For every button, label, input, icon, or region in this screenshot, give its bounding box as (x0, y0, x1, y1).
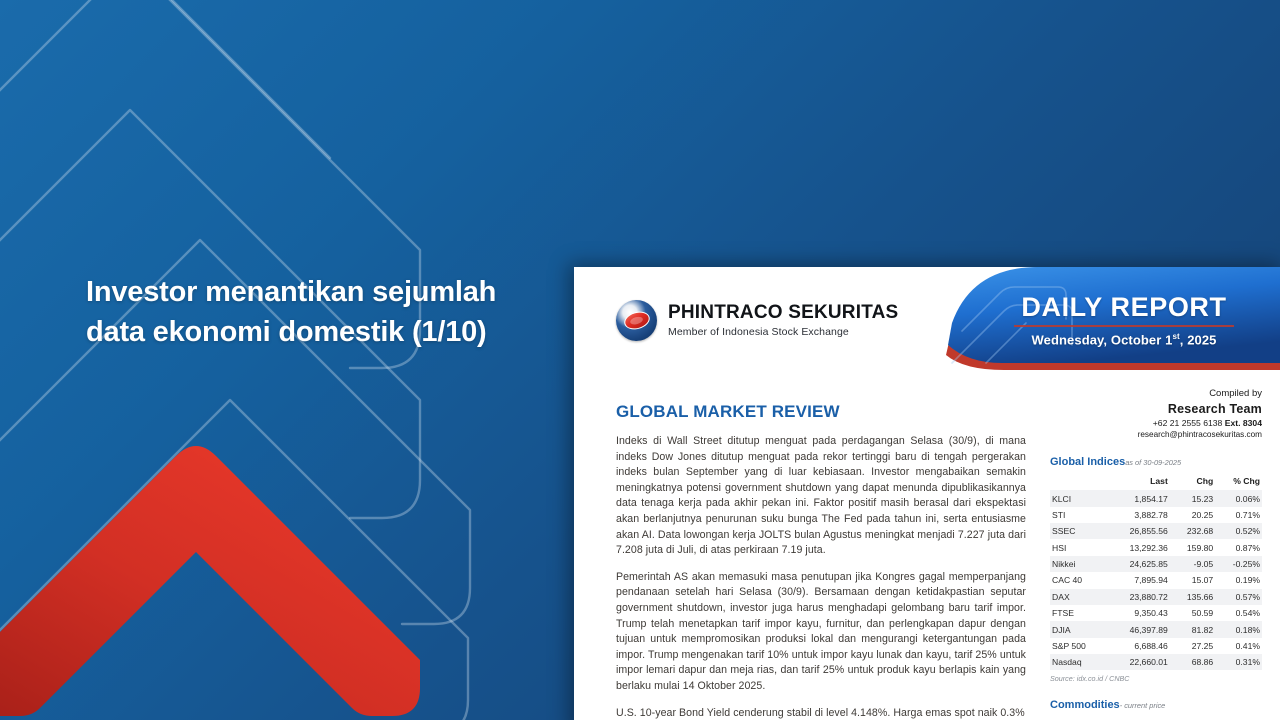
global-indices-table: Last Chg % Chg KLCI1,854.1715.230.06%STI… (1050, 474, 1262, 670)
cell-name: DAX (1050, 589, 1107, 605)
report-title-group: DAILY REPORT Wednesday, October 1st, 202… (988, 294, 1260, 347)
report-date: Wednesday, October 1st, 2025 (988, 332, 1260, 347)
phintraco-logo-icon (616, 300, 657, 341)
cell-name: CAC 40 (1050, 572, 1107, 588)
table-row: STI3,882.7820.250.71% (1050, 507, 1262, 523)
commodities-title: Commodities- current price (1050, 699, 1262, 711)
brand-name: PHINTRACO SEKURITAS (668, 303, 898, 323)
cell-chg: 20.25 (1170, 507, 1215, 523)
cell-name: DJIA (1050, 621, 1107, 637)
cell-last: 9,350.43 (1107, 605, 1170, 621)
compiled-by-team: Research Team (1050, 401, 1262, 418)
cell-name: SSEC (1050, 523, 1107, 539)
cell-last: 7,895.94 (1107, 572, 1170, 588)
global-indices-title: Global Indicesas of 30-09-2025 (1050, 456, 1262, 468)
cell-pct-chg: 0.41% (1215, 638, 1262, 654)
cell-last: 26,855.56 (1107, 523, 1170, 539)
cell-name: Nikkei (1050, 556, 1107, 572)
cell-last: 6,688.46 (1107, 638, 1170, 654)
report-title: DAILY REPORT (988, 294, 1260, 321)
col-header-chg: Chg (1170, 474, 1215, 490)
cell-chg: 50.59 (1170, 605, 1215, 621)
cell-pct-chg: 0.18% (1215, 621, 1262, 637)
cell-chg: -9.05 (1170, 556, 1215, 572)
global-indices-source: Source: idx.co.id / CNBC (1050, 674, 1262, 683)
table-row: SSEC26,855.56232.680.52% (1050, 523, 1262, 539)
brand-tagline: Member of Indonesia Stock Exchange (668, 326, 898, 338)
table-row: Nasdaq22,660.0168.860.31% (1050, 654, 1262, 670)
cell-name: S&P 500 (1050, 638, 1107, 654)
col-header-pct-chg: % Chg (1215, 474, 1262, 490)
daily-report-document: PHINTRACO SEKURITAS Member of Indonesia … (574, 267, 1280, 720)
review-paragraph: U.S. 10-year Bond Yield cenderung stabil… (616, 706, 1026, 720)
cell-name: Nasdaq (1050, 654, 1107, 670)
cell-chg: 81.82 (1170, 621, 1215, 637)
table-header-row: Last Chg % Chg (1050, 474, 1262, 490)
cell-name: FTSE (1050, 605, 1107, 621)
cell-last: 46,397.89 (1107, 621, 1170, 637)
brand-logo-group: PHINTRACO SEKURITAS Member of Indonesia … (616, 300, 898, 341)
compiled-by-email: research@phintracosekuritas.com (1050, 429, 1262, 440)
cell-pct-chg: 0.71% (1215, 507, 1262, 523)
cell-last: 1,854.17 (1107, 490, 1170, 506)
cell-last: 24,625.85 (1107, 556, 1170, 572)
document-header: PHINTRACO SEKURITAS Member of Indonesia … (574, 267, 1280, 370)
cell-pct-chg: 0.52% (1215, 523, 1262, 539)
cell-last: 3,882.78 (1107, 507, 1170, 523)
global-market-review-heading: GLOBAL MARKET REVIEW (616, 402, 1026, 422)
document-body: GLOBAL MARKET REVIEW Indeks di Wall Stre… (574, 370, 1280, 720)
table-row: HSI13,292.36159.800.87% (1050, 539, 1262, 555)
compiled-by-phone: +62 21 2555 6138 Ext. 8304 (1050, 418, 1262, 430)
cell-pct-chg: 0.19% (1215, 572, 1262, 588)
cell-chg: 15.23 (1170, 490, 1215, 506)
slide-headline: Investor menantikan sejumlah data ekonom… (86, 272, 506, 352)
cell-name: HSI (1050, 539, 1107, 555)
cell-pct-chg: 0.57% (1215, 589, 1262, 605)
compiled-by-label: Compiled by (1050, 388, 1262, 401)
right-column: Compiled by Research Team +62 21 2555 61… (1044, 380, 1280, 720)
compiled-by-block: Compiled by Research Team +62 21 2555 61… (1050, 388, 1262, 440)
cell-pct-chg: -0.25% (1215, 556, 1262, 572)
table-row: Nikkei24,625.85-9.05-0.25% (1050, 556, 1262, 572)
review-paragraph: Pemerintah AS akan memasuki masa penutup… (616, 570, 1026, 695)
cell-chg: 159.80 (1170, 539, 1215, 555)
cell-pct-chg: 0.31% (1215, 654, 1262, 670)
cell-pct-chg: 0.54% (1215, 605, 1262, 621)
cell-name: KLCI (1050, 490, 1107, 506)
table-row: DAX23,880.72135.660.57% (1050, 589, 1262, 605)
col-header-name (1050, 474, 1107, 490)
cell-chg: 68.86 (1170, 654, 1215, 670)
cell-chg: 135.66 (1170, 589, 1215, 605)
cell-name: STI (1050, 507, 1107, 523)
table-row: S&P 5006,688.4627.250.41% (1050, 638, 1262, 654)
left-column: GLOBAL MARKET REVIEW Indeks di Wall Stre… (574, 380, 1044, 720)
table-row: DJIA46,397.8981.820.18% (1050, 621, 1262, 637)
cell-last: 22,660.01 (1107, 654, 1170, 670)
report-title-rule (1014, 325, 1234, 327)
cell-last: 23,880.72 (1107, 589, 1170, 605)
cell-last: 13,292.36 (1107, 539, 1170, 555)
global-indices-rows: KLCI1,854.1715.230.06%STI3,882.7820.250.… (1050, 490, 1262, 670)
review-paragraph: Indeks di Wall Street ditutup menguat pa… (616, 434, 1026, 559)
cell-chg: 232.68 (1170, 523, 1215, 539)
table-row: CAC 407,895.9415.070.19% (1050, 572, 1262, 588)
cell-chg: 15.07 (1170, 572, 1215, 588)
cell-pct-chg: 0.87% (1215, 539, 1262, 555)
col-header-last: Last (1107, 474, 1170, 490)
table-row: FTSE9,350.4350.590.54% (1050, 605, 1262, 621)
slide-canvas: Investor menantikan sejumlah data ekonom… (0, 0, 1280, 720)
table-row: KLCI1,854.1715.230.06% (1050, 490, 1262, 506)
cell-chg: 27.25 (1170, 638, 1215, 654)
cell-pct-chg: 0.06% (1215, 490, 1262, 506)
